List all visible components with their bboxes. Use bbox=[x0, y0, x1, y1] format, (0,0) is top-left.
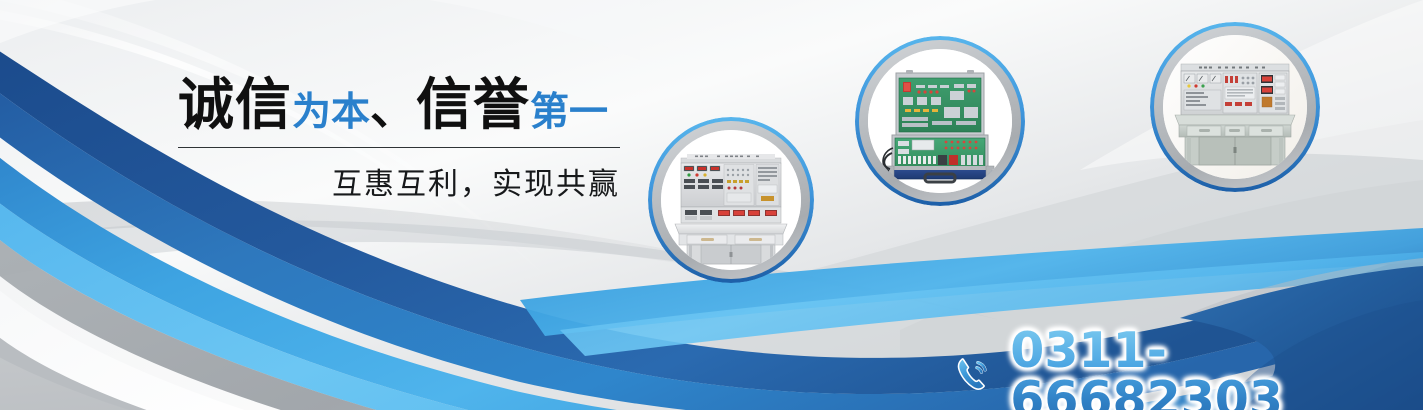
headline-part1: 诚信 bbox=[178, 78, 292, 134]
subtitle: 互惠互利，实现共赢 bbox=[178, 159, 620, 203]
promo-banner: 诚信 为本 、 信誉 第一 互惠互利，实现共赢 bbox=[0, 0, 1423, 410]
headline-separator: 、 bbox=[370, 85, 416, 131]
phone-number[interactable]: 0311-66682303 bbox=[1010, 326, 1423, 410]
product-circle-3[interactable] bbox=[1150, 22, 1320, 192]
headline-part2: 为本 bbox=[292, 93, 370, 132]
product-image-3 bbox=[1163, 35, 1307, 179]
product-image-2 bbox=[868, 49, 1012, 193]
headline-block: 诚信 为本 、 信誉 第一 互惠互利，实现共赢 bbox=[178, 72, 630, 203]
product-image-1 bbox=[661, 130, 801, 270]
contact-block[interactable]: 0311-66682303 bbox=[952, 326, 1423, 410]
product-circle-1[interactable] bbox=[648, 117, 814, 283]
headline-part4: 第一 bbox=[530, 93, 608, 132]
headline: 诚信 为本 、 信誉 第一 bbox=[178, 72, 630, 134]
headline-divider bbox=[178, 147, 620, 148]
headline-part3: 信誉 bbox=[416, 78, 530, 134]
product-circle-2[interactable] bbox=[855, 36, 1025, 206]
phone-icon bbox=[952, 352, 996, 398]
